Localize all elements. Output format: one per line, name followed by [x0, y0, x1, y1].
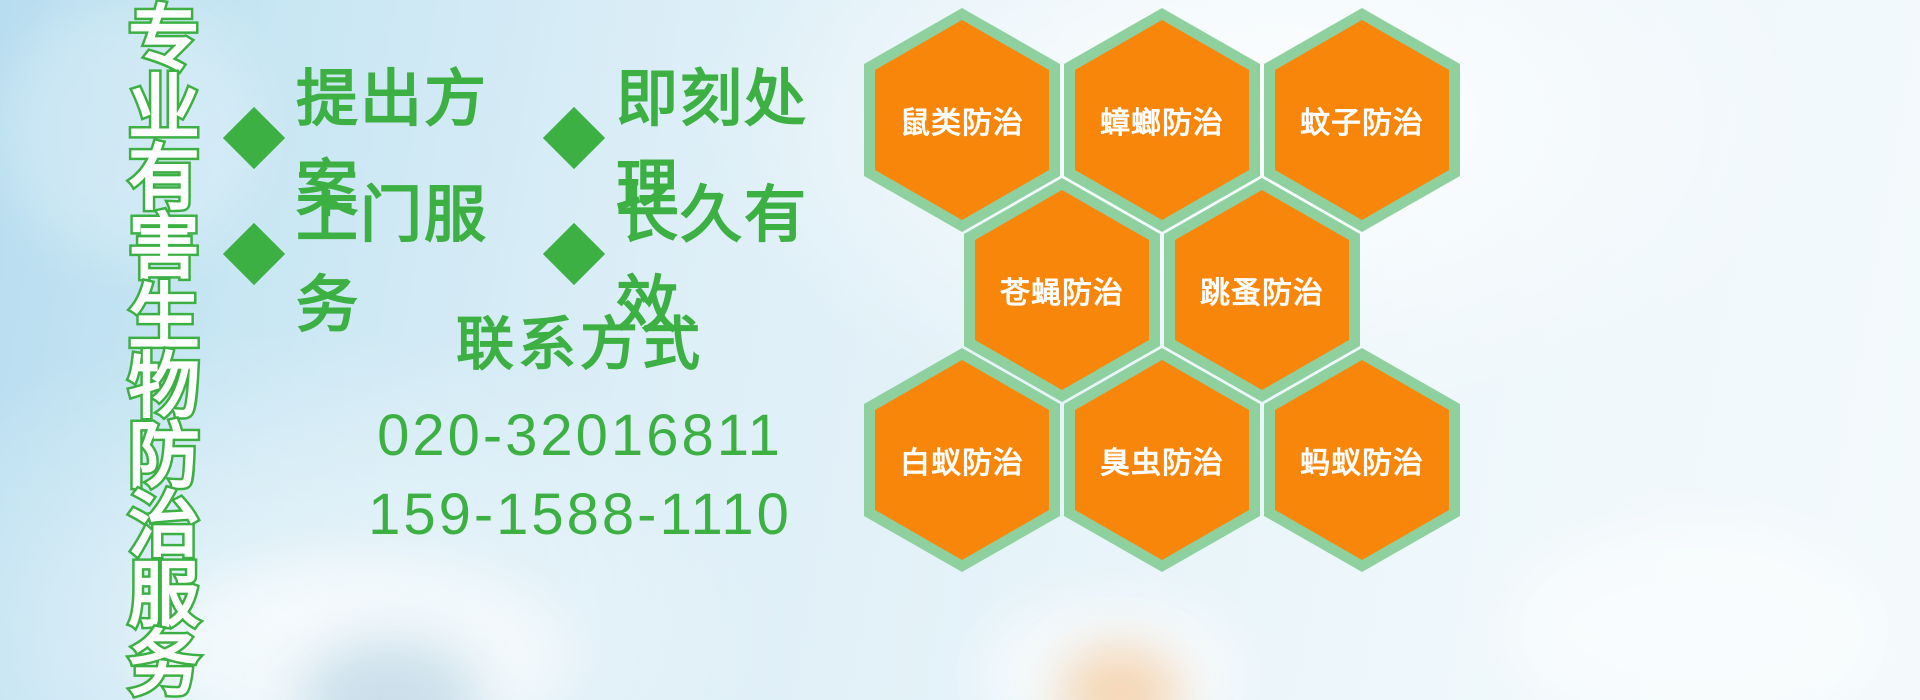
service-hex-label: 蟑螂防治 [1100, 98, 1224, 142]
vertical-headline-char: 服 [128, 562, 200, 631]
vertical-headline-char: 业 [128, 75, 200, 144]
vertical-headline-char: 治 [128, 492, 200, 561]
service-hex-label: 蚂蚁防治 [1300, 438, 1424, 482]
diamond-icon [223, 107, 285, 169]
feature-row: 上门服务 长久有效 [232, 196, 872, 312]
contact-block: 联系方式 020-32016811 159-1588-1110 [300, 312, 860, 554]
diamond-icon [543, 107, 605, 169]
service-hex-label: 蚊子防治 [1300, 98, 1424, 142]
contact-title: 联系方式 [300, 312, 860, 379]
service-hex-label: 苍蝇防治 [1000, 268, 1124, 312]
pest-control-banner: 专 业 有 害 生 物 防 治 服 务 提出方案 即刻处理 上门服务 长久有效 … [0, 0, 1920, 700]
service-hex-inner: 白蚁防治 [875, 360, 1049, 560]
service-hex-label: 鼠类防治 [900, 98, 1024, 142]
service-hex-inner: 蚊子防治 [1275, 20, 1449, 220]
vertical-headline-char: 专 [128, 6, 200, 75]
background-blur-blob [1060, 648, 1180, 700]
service-hex-inner: 臭虫防治 [1075, 360, 1249, 560]
contact-phone-secondary[interactable]: 159-1588-1110 [300, 476, 860, 555]
vertical-headline-char: 生 [128, 284, 200, 353]
service-hex-label: 臭虫防治 [1100, 438, 1224, 482]
background-blur-blob [1500, 520, 1880, 700]
vertical-headline-char: 害 [128, 214, 200, 283]
service-hex-label: 跳蚤防治 [1200, 268, 1324, 312]
service-hex-inner: 苍蝇防治 [975, 190, 1149, 390]
vertical-headline-char: 有 [128, 145, 200, 214]
background-blur-blob [980, 600, 1240, 700]
vertical-headline-char: 物 [128, 353, 200, 422]
service-hex-inner: 鼠类防治 [875, 20, 1049, 220]
contact-phone-primary[interactable]: 020-32016811 [300, 397, 860, 476]
diamond-icon [543, 223, 605, 285]
service-hex-inner: 跳蚤防治 [1175, 190, 1349, 390]
vertical-headline-char: 防 [128, 423, 200, 492]
feature-list: 提出方案 即刻处理 上门服务 长久有效 [232, 80, 872, 312]
service-hex-inner: 蟑螂防治 [1075, 20, 1249, 220]
vertical-headline: 专 业 有 害 生 物 防 治 服 务 [112, 6, 216, 696]
background-blur-blob [300, 640, 480, 700]
service-hex-label: 白蚁防治 [900, 438, 1024, 482]
service-honeycomb: 鼠类防治 蟑螂防治 蚊子防治 苍蝇防治 跳蚤防治 白蚁防治 [864, 0, 1464, 552]
diamond-icon [223, 223, 285, 285]
service-hex-inner: 蚂蚁防治 [1275, 360, 1449, 560]
vertical-headline-char: 务 [128, 631, 200, 700]
